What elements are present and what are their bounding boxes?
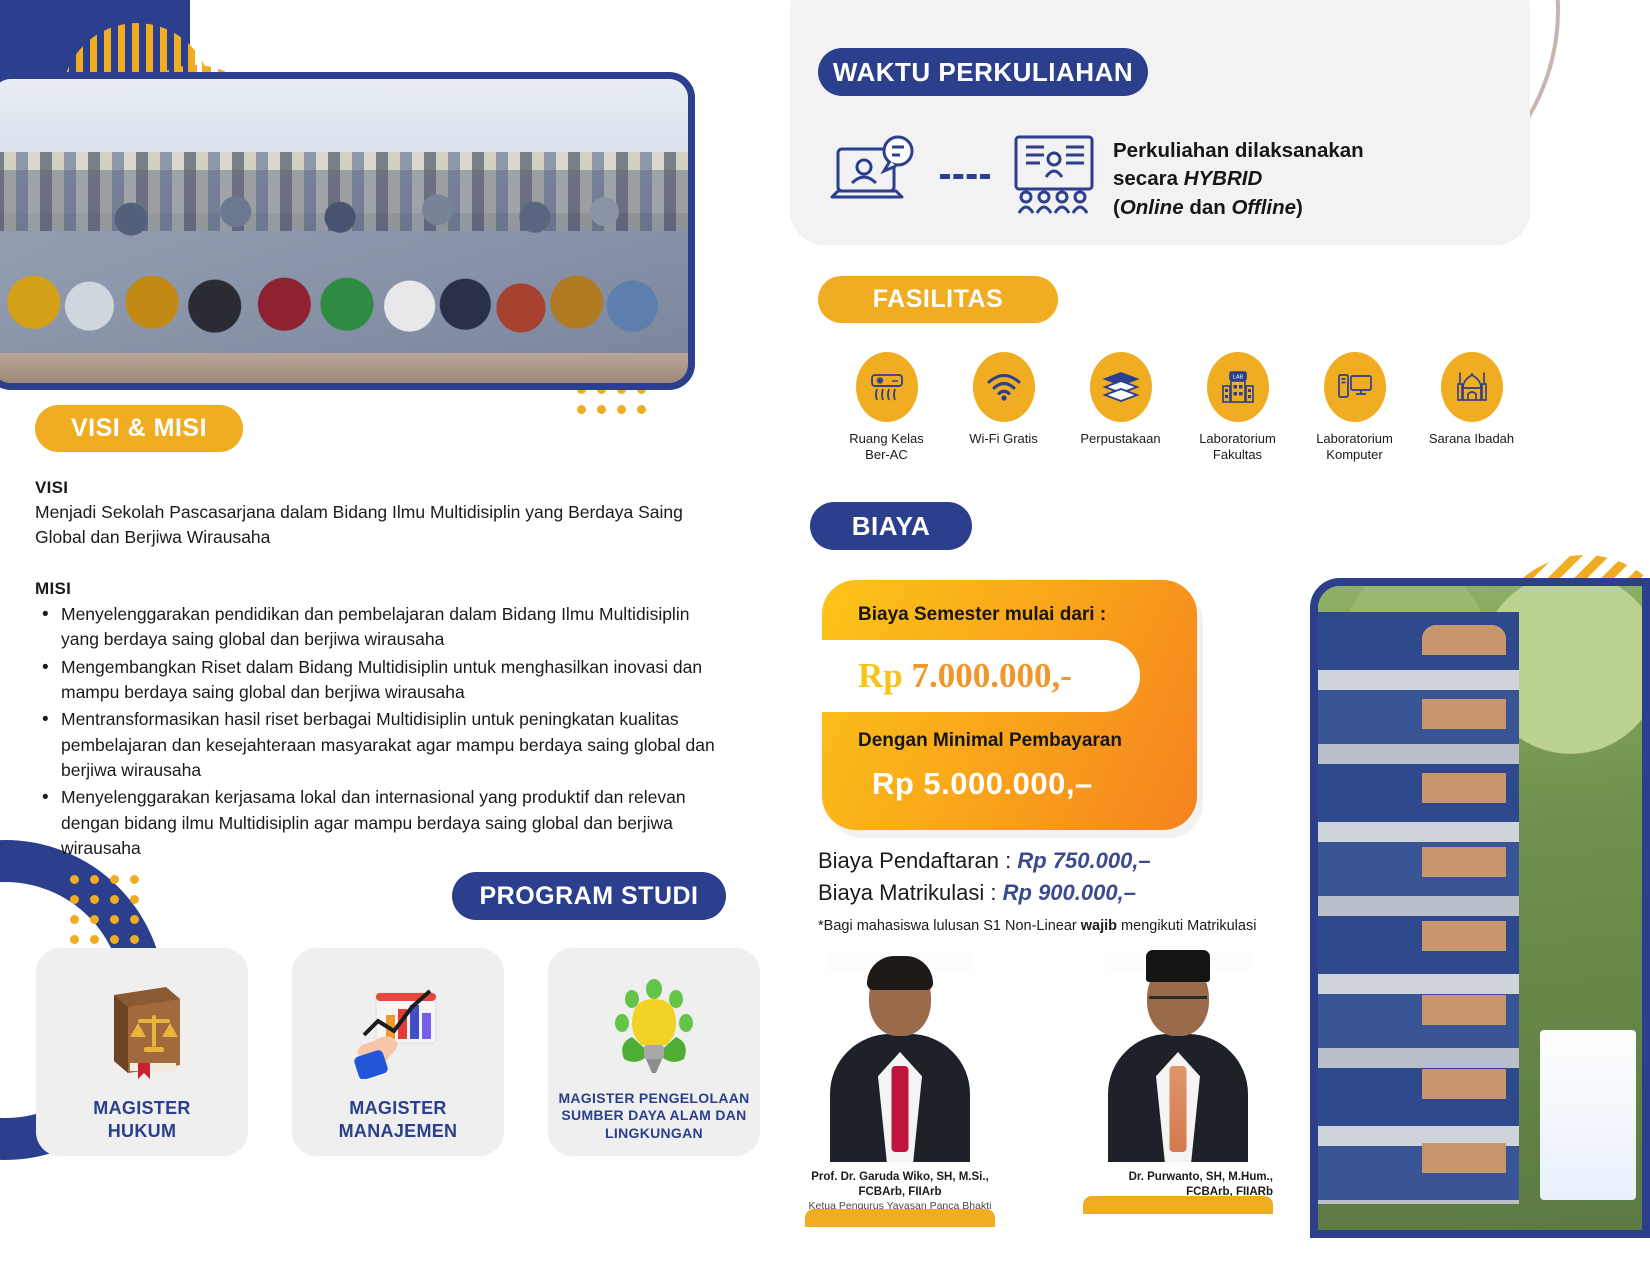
fasilitas-list: Ruang Kelas Ber-AC Wi-Fi Gratis — [828, 352, 1530, 462]
air-conditioner-icon — [856, 352, 918, 422]
waktu-line2: secara HYBRID — [1113, 165, 1443, 193]
program-card-line2: SUMBER DAYA ALAM DAN — [561, 1107, 746, 1123]
classroom-presentation-icon — [1008, 133, 1100, 220]
dot-grid-prodi — [70, 875, 139, 944]
biaya-subheading-text: Dengan Minimal Pembayaran — [858, 730, 1122, 752]
portrait-garuda-wiko: Prof. Dr. Garuda Wiko, SH, M.Si., FCBArb… — [805, 952, 995, 1227]
svg-text:LAB: LAB — [1232, 375, 1243, 381]
wifi-icon — [973, 352, 1035, 422]
program-card-line1: MAGISTER PENGELOLAAN — [558, 1090, 749, 1106]
waktu-perkuliahan-heading-pill: WAKTU PERKULIAHAN — [818, 48, 1148, 96]
portrait-base-bar — [1083, 1196, 1273, 1214]
fee-registration-row: Biaya Pendaftaran : Rp 750.000,– — [818, 845, 1338, 877]
fasilitas-item-sarana-ibadah[interactable]: Sarana Ibadah — [1413, 352, 1530, 462]
brochure-page: VISI & MISI VISI Menjadi Sekolah Pascasa… — [0, 0, 1650, 1275]
list-item: Mentransformasikan hasil riset berbagai … — [35, 707, 725, 783]
fee-matriculation-row: Biaya Matrikulasi : Rp 900.000,– — [818, 877, 1338, 909]
waktu-icon-row — [830, 133, 1100, 220]
program-card-magister-manajemen[interactable]: MAGISTER MANAJEMEN — [292, 948, 504, 1156]
visi-text: Menjadi Sekolah Pascasarjana dalam Bidan… — [35, 500, 725, 551]
mosque-icon — [1441, 352, 1503, 422]
misi-label: MISI — [35, 579, 725, 599]
biaya-amount-badge: Rp 7.000.000,- — [822, 640, 1140, 712]
biaya-heading-text: Biaya Semester mulai dari : — [858, 604, 1106, 626]
program-card-line1: MAGISTER — [349, 1098, 446, 1118]
bottom-right-group-photo — [1310, 578, 1650, 1238]
fasilitas-item-label: Perpustakaan — [1080, 431, 1160, 447]
waktu-description: Perkuliahan dilaksanakan secara HYBRID (… — [1113, 137, 1443, 222]
computer-icon — [1324, 352, 1386, 422]
biaya-amount-minimum: Rp 5.000.000,– — [872, 766, 1093, 802]
program-card-label: MAGISTER MANAJEMEN — [339, 1097, 458, 1142]
portrait-photo — [828, 952, 973, 1162]
lab-building-icon: LAB — [1207, 352, 1269, 422]
list-item: Menyelenggarakan pendidikan dan pembelaj… — [35, 602, 725, 653]
lightbulb-leaf-icon — [548, 970, 760, 1088]
program-studi-cards: MAGISTER HUKUM MAGISTER — [36, 948, 760, 1156]
visi-label: VISI — [35, 478, 725, 498]
portrait-base-bar — [805, 1209, 995, 1227]
dashed-connector-icon — [940, 174, 990, 179]
portrait-photo — [1106, 952, 1251, 1162]
hero-group-photo — [0, 72, 695, 390]
leadership-portraits: Prof. Dr. Garuda Wiko, SH, M.Si., FCBArb… — [805, 952, 1325, 1252]
fasilitas-item-perpustakaan[interactable]: Perpustakaan — [1062, 352, 1179, 462]
biaya-price-card: Biaya Semester mulai dari : Rp 7.000.000… — [822, 580, 1197, 830]
fee-matriculation-label: Biaya Matrikulasi : — [818, 880, 1003, 905]
fasilitas-item-label: Sarana Ibadah — [1429, 431, 1514, 447]
fasilitas-item-ruang-kelas[interactable]: Ruang Kelas Ber-AC — [828, 352, 945, 462]
program-card-magister-psdal[interactable]: MAGISTER PENGELOLAAN SUMBER DAYA ALAM DA… — [548, 948, 760, 1156]
biaya-heading-pill: BIAYA — [810, 502, 972, 550]
fasilitas-item-lab-komputer[interactable]: Laboratorium Komputer — [1296, 352, 1413, 462]
fasilitas-item-label: Ruang Kelas Ber-AC — [849, 431, 923, 462]
bar-chart-hand-icon — [292, 970, 504, 1088]
portrait-purwanto: Dr. Purwanto, SH, M.Hum., FCBArb, FIIARb… — [1083, 952, 1273, 1214]
fee-matriculation-value: Rp 900.000,– — [1003, 880, 1136, 905]
fasilitas-item-label: Laboratorium Fakultas — [1199, 431, 1276, 462]
fasilitas-item-wifi[interactable]: Wi-Fi Gratis — [945, 352, 1062, 462]
program-card-line2: HUKUM — [108, 1121, 177, 1141]
program-card-label: MAGISTER HUKUM — [93, 1097, 190, 1142]
waktu-line3: (Online dan Offline) — [1113, 194, 1443, 222]
program-card-label: MAGISTER PENGELOLAAN SUMBER DAYA ALAM DA… — [558, 1090, 749, 1142]
program-card-line3: LINGKUNGAN — [605, 1125, 703, 1141]
fee-details: Biaya Pendaftaran : Rp 750.000,– Biaya M… — [818, 845, 1338, 934]
visi-misi-content: VISI Menjadi Sekolah Pascasarjana dalam … — [35, 478, 725, 864]
list-item: Menyelenggarakan kerjasama lokal dan int… — [35, 785, 725, 861]
books-stack-icon — [1090, 352, 1152, 422]
biaya-amount-main: Rp 7.000.000,- — [858, 656, 1072, 696]
program-card-line2: MANAJEMEN — [339, 1121, 458, 1141]
footnote-emphasis: wajib — [1081, 918, 1117, 934]
program-card-magister-hukum[interactable]: MAGISTER HUKUM — [36, 948, 248, 1156]
list-item: Mengembangkan Riset dalam Bidang Multidi… — [35, 655, 725, 706]
visi-misi-heading-pill: VISI & MISI — [35, 405, 243, 452]
fasilitas-heading-pill: FASILITAS — [818, 276, 1058, 323]
laptop-video-call-icon — [830, 135, 922, 218]
offline-emphasis: Offline — [1231, 196, 1296, 219]
online-emphasis: Online — [1120, 196, 1184, 219]
portrait-name: Prof. Dr. Garuda Wiko, SH, M.Si., FCBArb… — [805, 1170, 995, 1200]
fasilitas-item-lab-fakultas[interactable]: LAB Laboratorium Fakultas — [1179, 352, 1296, 462]
fee-registration-label: Biaya Pendaftaran : — [818, 848, 1017, 873]
misi-list: Menyelenggarakan pendidikan dan pembelaj… — [35, 602, 725, 862]
program-card-line1: MAGISTER — [93, 1098, 190, 1118]
program-studi-heading-pill: PROGRAM STUDI — [452, 872, 726, 920]
waktu-line1: Perkuliahan dilaksanakan — [1113, 137, 1443, 165]
fee-footnote: *Bagi mahasiswa lulusan S1 Non-Linear wa… — [818, 918, 1338, 934]
fasilitas-item-label: Wi-Fi Gratis — [969, 431, 1038, 447]
fasilitas-item-label: Laboratorium Komputer — [1316, 431, 1393, 462]
law-book-icon — [36, 970, 248, 1088]
hybrid-emphasis: HYBRID — [1184, 167, 1263, 190]
fee-registration-value: Rp 750.000,– — [1017, 848, 1150, 873]
